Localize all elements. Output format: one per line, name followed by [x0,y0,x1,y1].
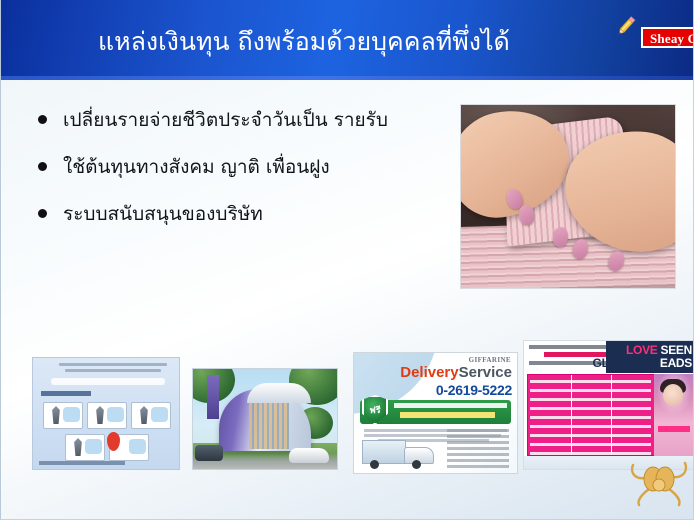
white-car [289,448,329,463]
product-card [131,402,171,429]
antenna-icon [70,438,86,456]
logo-pylon [207,375,219,419]
presentation-slide: แหล่งเงินทุน ถึงพร้อมด้วยบุคคลที่พึ่งได้… [0,0,694,520]
delivery-truck-icon [362,439,436,469]
quote-banner [51,378,165,385]
feature-line [447,447,509,450]
footer-note [39,461,125,465]
flyer-title-secondary: Service [459,364,512,381]
satellite-dish-icon [136,406,152,424]
love-seen-glassed-beads-thumbnail[interactable]: LOVE SEEN GLASSED BEADS [523,340,694,470]
satellite-dish-icon [92,406,108,424]
price-bubble [151,407,168,422]
headline-line-2: GLASSED BEADS [546,356,692,370]
headline-word-eads: EADS [660,356,692,370]
header-line [65,369,161,372]
company-building-thumbnail[interactable] [192,368,338,470]
satellite-dish-icon [48,406,64,424]
headline-line-1: LOVE SEEN [560,343,692,357]
giffarine-delivery-flyer-thumbnail[interactable]: GIFFARINE DeliveryService 0-2619-5222 ฟร… [353,352,518,474]
flyer-title-primary: Delivery [400,364,458,381]
glass-facade [249,403,289,449]
truck-box [362,440,406,464]
thumbnail-strip: GIFFARINE DeliveryService 0-2619-5222 ฟร… [0,0,694,520]
flyer-phone-number: 0-2619-5222 [436,382,512,398]
building-roof [247,383,311,403]
product-card [65,434,105,461]
model-face [663,384,683,406]
truck-wheel [412,460,421,469]
price-bubble [107,407,124,422]
feature-line [447,453,509,456]
price-bubble [63,407,80,422]
promo-line-1 [394,403,507,408]
flyer-title: DeliveryService [400,365,512,381]
table-row [530,416,651,419]
table-row [530,443,651,446]
giffarine-brand-label: GIFFARINE [469,356,511,364]
satellite-products-infographic-thumbnail[interactable] [32,357,180,470]
header-line [59,363,167,366]
section-caption [41,391,91,396]
feature-line [447,459,509,462]
promo-line-2 [400,412,495,418]
headline-word-seen: SEEN [661,343,692,357]
poster-headline-banner: LOVE SEEN GLASSED BEADS [606,341,694,373]
table-row [530,425,651,428]
product-card [87,402,127,429]
table-row [530,380,651,383]
gold-ribbon-bow-icon [627,455,691,507]
feature-line [447,429,509,432]
price-bubble [85,439,102,454]
feature-line [447,465,509,468]
model-photo [654,374,694,456]
poster-caption [658,426,690,432]
prize-table [527,374,655,456]
table-row [530,398,651,401]
table-row [530,407,651,410]
dark-car [195,445,223,461]
feature-line [447,435,509,438]
table-row [530,389,651,392]
price-bubble [129,439,146,454]
product-card [43,402,83,429]
table-row [530,434,651,437]
feature-bullet-lines [447,429,509,471]
feature-line [447,441,509,444]
truck-wheel [370,460,379,469]
